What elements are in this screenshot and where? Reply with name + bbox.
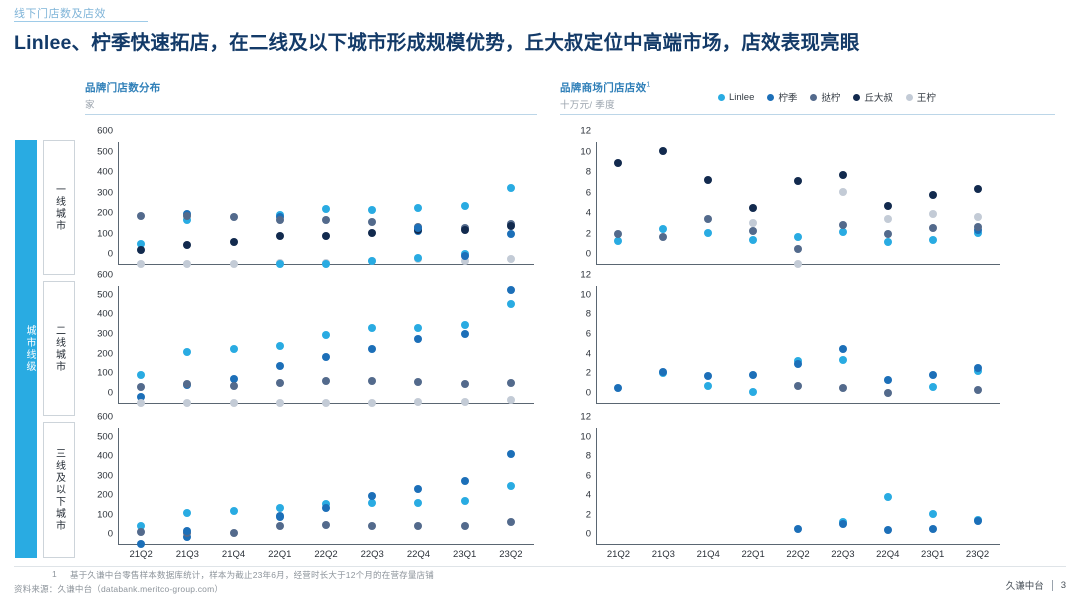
- left-column-header: 品牌门店数分布 家: [85, 80, 537, 115]
- data-point-王柠: [137, 260, 145, 268]
- y-axis-tick-label: 8: [586, 451, 591, 462]
- data-point-Linlee: [614, 237, 622, 245]
- y-axis-tick-label: 100: [97, 228, 113, 239]
- data-point-挞柠: [322, 216, 330, 224]
- legend-label: 挞柠: [821, 90, 840, 104]
- y-axis-tick-label: 10: [580, 431, 591, 442]
- x-axis-line: [596, 544, 1000, 545]
- source-text: 资料来源：久谦中台（databank.meritco-group.com）: [14, 583, 223, 595]
- left-header-divider: [85, 114, 537, 115]
- y-axis-tick-label: 300: [97, 187, 113, 198]
- y-axis-tick-label: 6: [586, 187, 591, 198]
- y-axis-tick-label: 500: [97, 289, 113, 300]
- data-point-王柠: [929, 210, 937, 218]
- legend-label: 王柠: [917, 90, 936, 104]
- data-point-Linlee: [230, 345, 238, 353]
- page-number: 3: [1061, 580, 1066, 591]
- x-axis-tick-label: 23Q1: [921, 549, 944, 560]
- data-point-挞柠: [183, 212, 191, 220]
- y-axis-tick-label: 200: [97, 208, 113, 219]
- data-point-挞柠: [276, 379, 284, 387]
- y-axis-tick-label: 100: [97, 509, 113, 520]
- y-axis-tick-label: 0: [108, 249, 113, 260]
- x-axis-line: [596, 403, 1000, 404]
- chart-stores-tier2: 0100200300400500600: [118, 286, 534, 404]
- data-point-Linlee: [368, 206, 376, 214]
- data-point-丘大叔: [794, 177, 802, 185]
- data-point-王柠: [276, 399, 284, 407]
- data-point-Linlee: [461, 321, 469, 329]
- data-point-Linlee: [322, 260, 330, 268]
- legend-swatch-icon: [810, 94, 817, 101]
- x-axis-tick-label: 23Q2: [966, 549, 989, 560]
- data-point-丘大叔: [749, 204, 757, 212]
- legend-item-linlee[interactable]: Linlee: [718, 92, 754, 103]
- data-point-柠季: [414, 335, 422, 343]
- chart-legend: Linlee柠季挞柠丘大叔王柠: [718, 90, 936, 104]
- x-axis-tick-label: 22Q4: [407, 549, 430, 560]
- y-axis-line: [596, 428, 597, 545]
- data-point-挞柠: [414, 522, 422, 530]
- data-point-王柠: [974, 213, 982, 221]
- data-point-柠季: [884, 526, 892, 534]
- data-point-王柠: [368, 399, 376, 407]
- data-point-Linlee: [183, 509, 191, 517]
- data-point-柠季: [974, 517, 982, 525]
- legend-item-王柠[interactable]: 王柠: [906, 90, 936, 104]
- x-axis-tick-label: 21Q2: [129, 549, 152, 560]
- y-axis-tick-label: 400: [97, 167, 113, 178]
- data-point-王柠: [507, 255, 515, 263]
- y-axis-tick-label: 500: [97, 431, 113, 442]
- data-point-Linlee: [414, 324, 422, 332]
- x-axis-tick-label: 22Q1: [268, 549, 291, 560]
- data-point-Linlee: [322, 331, 330, 339]
- x-axis-tick-label: 21Q4: [697, 549, 720, 560]
- data-point-王柠: [507, 396, 515, 404]
- x-axis-tick-label: 22Q1: [741, 549, 764, 560]
- y-axis-tick-label: 8: [586, 309, 591, 320]
- data-point-丘大叔: [230, 238, 238, 246]
- data-point-Linlee: [276, 260, 284, 268]
- data-point-丘大叔: [322, 232, 330, 240]
- plot-area: 02468101221Q221Q321Q422Q122Q222Q322Q423Q…: [596, 428, 1000, 545]
- data-point-丘大叔: [276, 232, 284, 240]
- y-axis-line: [118, 286, 119, 404]
- data-point-王柠: [839, 188, 847, 196]
- data-point-挞柠: [974, 386, 982, 394]
- y-axis-tick-label: 0: [108, 388, 113, 399]
- x-axis-tick-label: 22Q2: [786, 549, 809, 560]
- data-point-挞柠: [230, 529, 238, 537]
- data-point-柠季: [414, 224, 422, 232]
- data-point-Linlee: [414, 499, 422, 507]
- eyebrow-divider: [14, 21, 148, 22]
- plot-area: 010020030040050060021Q221Q321Q422Q122Q22…: [118, 428, 534, 545]
- data-point-柠季: [322, 353, 330, 361]
- data-point-挞柠: [974, 223, 982, 231]
- legend-label: 柠季: [778, 90, 797, 104]
- data-point-挞柠: [414, 378, 422, 386]
- footnote-number: 1: [52, 569, 57, 579]
- data-point-柠季: [137, 540, 145, 548]
- data-point-挞柠: [183, 380, 191, 388]
- data-point-挞柠: [368, 522, 376, 530]
- data-point-王柠: [183, 260, 191, 268]
- data-point-Linlee: [749, 388, 757, 396]
- y-axis-tick-label: 2: [586, 228, 591, 239]
- data-point-挞柠: [839, 221, 847, 229]
- data-point-挞柠: [614, 230, 622, 238]
- data-point-挞柠: [137, 383, 145, 391]
- data-point-挞柠: [368, 377, 376, 385]
- data-point-挞柠: [507, 379, 515, 387]
- data-point-王柠: [749, 219, 757, 227]
- data-point-丘大叔: [183, 241, 191, 249]
- data-point-柠季: [974, 364, 982, 372]
- legend-item-柠季[interactable]: 柠季: [767, 90, 797, 104]
- data-point-柠季: [507, 286, 515, 294]
- data-point-Linlee: [322, 205, 330, 213]
- data-point-Linlee: [368, 257, 376, 265]
- data-point-柠季: [507, 230, 515, 238]
- data-point-柠季: [839, 345, 847, 353]
- y-axis-tick-label: 2: [586, 509, 591, 520]
- y-axis-tick-label: 500: [97, 146, 113, 157]
- data-point-Linlee: [929, 236, 937, 244]
- data-point-王柠: [461, 398, 469, 406]
- y-axis-tick-label: 2: [586, 368, 591, 379]
- data-point-柠季: [183, 527, 191, 535]
- footnote-text: 基于久谦中台零售样本数据库统计，样本为截止23年6月，经营时长大于12个月的在营…: [70, 569, 434, 581]
- data-point-挞柠: [322, 521, 330, 529]
- data-point-丘大叔: [507, 222, 515, 230]
- y-axis-tick-label: 600: [97, 270, 113, 281]
- data-point-Linlee: [659, 225, 667, 233]
- y-axis-line: [118, 142, 119, 265]
- data-point-柠季: [794, 360, 802, 368]
- y-axis-tick-label: 300: [97, 470, 113, 481]
- legend-swatch-icon: [853, 94, 860, 101]
- chart-efficiency-tier3: 02468101221Q221Q321Q422Q122Q222Q322Q423Q…: [596, 428, 1000, 545]
- data-point-Linlee: [461, 497, 469, 505]
- y-axis-line: [596, 286, 597, 404]
- data-point-王柠: [884, 215, 892, 223]
- data-point-Linlee: [794, 233, 802, 241]
- data-point-柠季: [929, 525, 937, 533]
- data-point-Linlee: [839, 228, 847, 236]
- data-point-柠季: [461, 330, 469, 338]
- data-point-柠季: [276, 512, 284, 520]
- data-point-挞柠: [794, 245, 802, 253]
- legend-swatch-icon: [906, 94, 913, 101]
- legend-item-挞柠[interactable]: 挞柠: [810, 90, 840, 104]
- data-point-挞柠: [704, 215, 712, 223]
- x-axis-tick-label: 22Q2: [314, 549, 337, 560]
- data-point-Linlee: [507, 184, 515, 192]
- y-axis-tick-label: 600: [97, 126, 113, 137]
- x-axis-tick-label: 21Q4: [222, 549, 245, 560]
- data-point-Linlee: [276, 342, 284, 350]
- data-point-柠季: [276, 362, 284, 370]
- data-point-丘大叔: [929, 191, 937, 199]
- footer-divider: [14, 566, 1066, 567]
- y-axis-tick-label: 10: [580, 146, 591, 157]
- data-point-柠季: [659, 368, 667, 376]
- data-point-Linlee: [276, 504, 284, 512]
- x-axis-tick-label: 21Q3: [176, 549, 199, 560]
- row-label-tier2: 二线城市: [43, 281, 75, 416]
- y-axis-tick-label: 100: [97, 368, 113, 379]
- data-point-丘大叔: [704, 176, 712, 184]
- data-point-挞柠: [507, 518, 515, 526]
- left-chart-title: 品牌门店数分布: [85, 80, 537, 95]
- data-point-挞柠: [137, 212, 145, 220]
- y-axis-line: [118, 428, 119, 545]
- data-point-挞柠: [749, 227, 757, 235]
- page-title: Linlee、柠季快速拓店，在二线及以下城市形成规模优势，丘大叔定位中高端市场，…: [14, 26, 1070, 55]
- plot-area: 024681012: [596, 286, 1000, 404]
- y-axis-tick-label: 400: [97, 309, 113, 320]
- data-point-王柠: [794, 260, 802, 268]
- y-axis-tick-label: 0: [108, 529, 113, 540]
- legend-label: Linlee: [729, 92, 754, 103]
- data-point-Linlee: [839, 356, 847, 364]
- data-point-挞柠: [839, 384, 847, 392]
- y-axis-tick-label: 12: [580, 126, 591, 137]
- legend-label: 丘大叔: [864, 90, 893, 104]
- dimension-axis-label: 城市线级: [15, 140, 37, 558]
- x-axis-tick-label: 21Q2: [607, 549, 630, 560]
- footer-separator: [1052, 580, 1053, 591]
- data-point-王柠: [137, 399, 145, 407]
- plot-area: 0100200300400500600: [118, 142, 534, 265]
- legend-item-丘大叔[interactable]: 丘大叔: [853, 90, 893, 104]
- data-point-Linlee: [507, 300, 515, 308]
- data-point-柠季: [614, 384, 622, 392]
- data-point-挞柠: [230, 213, 238, 221]
- data-point-挞柠: [461, 380, 469, 388]
- dimension-axis-text: 城市线级: [15, 319, 37, 379]
- data-point-柠季: [704, 372, 712, 380]
- data-point-挞柠: [276, 216, 284, 224]
- data-point-柠季: [368, 345, 376, 353]
- data-point-Linlee: [137, 371, 145, 379]
- data-point-丘大叔: [614, 159, 622, 167]
- data-point-丘大叔: [461, 226, 469, 234]
- data-point-丘大叔: [974, 185, 982, 193]
- data-point-Linlee: [414, 204, 422, 212]
- data-point-挞柠: [884, 389, 892, 397]
- data-point-柠季: [507, 450, 515, 458]
- right-header-divider: [560, 114, 1055, 115]
- data-point-Linlee: [749, 236, 757, 244]
- data-point-Linlee: [704, 382, 712, 390]
- chart-efficiency-tier2: 024681012: [596, 286, 1000, 404]
- data-point-挞柠: [884, 230, 892, 238]
- footnote-marker: 1: [646, 82, 650, 89]
- data-point-Linlee: [230, 507, 238, 515]
- data-point-柠季: [322, 504, 330, 512]
- data-point-挞柠: [230, 382, 238, 390]
- data-point-挞柠: [659, 233, 667, 241]
- x-axis-tick-label: 21Q3: [652, 549, 675, 560]
- data-point-挞柠: [137, 528, 145, 536]
- y-axis-tick-label: 8: [586, 167, 591, 178]
- y-axis-tick-label: 4: [586, 348, 591, 359]
- data-point-王柠: [183, 399, 191, 407]
- data-point-丘大叔: [368, 229, 376, 237]
- data-point-Linlee: [368, 324, 376, 332]
- x-axis-line: [118, 544, 534, 545]
- y-axis-tick-label: 10: [580, 289, 591, 300]
- data-point-柠季: [884, 376, 892, 384]
- slide-page: 线下门店数及店效 Linlee、柠季快速拓店，在二线及以下城市形成规模优势，丘大…: [0, 0, 1080, 607]
- plot-area: 024681012: [596, 142, 1000, 265]
- data-point-柠季: [461, 477, 469, 485]
- data-point-柠季: [368, 492, 376, 500]
- y-axis-tick-label: 6: [586, 329, 591, 340]
- data-point-丘大叔: [137, 246, 145, 254]
- data-point-Linlee: [704, 229, 712, 237]
- legend-swatch-icon: [718, 94, 725, 101]
- data-point-柠季: [749, 371, 757, 379]
- x-axis-tick-label: 23Q2: [499, 549, 522, 560]
- y-axis-tick-label: 4: [586, 490, 591, 501]
- left-chart-unit: 家: [85, 97, 537, 111]
- data-point-挞柠: [322, 377, 330, 385]
- data-point-柠季: [839, 520, 847, 528]
- data-point-Linlee: [461, 202, 469, 210]
- y-axis-tick-label: 600: [97, 412, 113, 423]
- x-axis-tick-label: 23Q1: [453, 549, 476, 560]
- chart-stores-tier3: 010020030040050060021Q221Q321Q422Q122Q22…: [118, 428, 534, 545]
- chart-efficiency-tier1: 024681012: [596, 142, 1000, 265]
- data-point-Linlee: [507, 482, 515, 490]
- y-axis-tick-label: 300: [97, 329, 113, 340]
- y-axis-tick-label: 0: [586, 529, 591, 540]
- y-axis-tick-label: 6: [586, 470, 591, 481]
- data-point-Linlee: [368, 499, 376, 507]
- data-point-挞柠: [276, 522, 284, 530]
- x-axis-tick-label: 22Q3: [831, 549, 854, 560]
- footer-brand: 久谦中台: [1006, 578, 1044, 592]
- data-point-挞柠: [794, 382, 802, 390]
- y-axis-tick-label: 200: [97, 348, 113, 359]
- y-axis-tick-label: 0: [586, 388, 591, 399]
- y-axis-tick-label: 12: [580, 412, 591, 423]
- data-point-柠季: [414, 485, 422, 493]
- legend-swatch-icon: [767, 94, 774, 101]
- y-axis-line: [596, 142, 597, 265]
- data-point-柠季: [929, 371, 937, 379]
- data-point-挞柠: [929, 224, 937, 232]
- eyebrow-label: 线下门店数及店效: [14, 5, 106, 21]
- data-point-丘大叔: [839, 171, 847, 179]
- data-point-Linlee: [414, 254, 422, 262]
- y-axis-tick-label: 200: [97, 490, 113, 501]
- data-point-Linlee: [884, 238, 892, 246]
- data-point-柠季: [461, 252, 469, 260]
- data-point-王柠: [414, 398, 422, 406]
- data-point-Linlee: [884, 493, 892, 501]
- x-axis-tick-label: 22Q3: [361, 549, 384, 560]
- row-label-tier1: 一线城市: [43, 140, 75, 275]
- data-point-王柠: [230, 399, 238, 407]
- x-axis-tick-label: 22Q4: [876, 549, 899, 560]
- data-point-王柠: [322, 399, 330, 407]
- y-axis-tick-label: 0: [586, 249, 591, 260]
- row-label-tier3: 三线及以下城市: [43, 422, 75, 558]
- footer-page-info: 久谦中台 3: [1006, 578, 1066, 592]
- y-axis-tick-label: 400: [97, 451, 113, 462]
- data-point-Linlee: [929, 383, 937, 391]
- data-point-柠季: [794, 525, 802, 533]
- chart-stores-tier1: 0100200300400500600: [118, 142, 534, 265]
- y-axis-tick-label: 4: [586, 208, 591, 219]
- data-point-挞柠: [368, 218, 376, 226]
- data-point-丘大叔: [659, 147, 667, 155]
- data-point-王柠: [230, 260, 238, 268]
- data-point-Linlee: [929, 510, 937, 518]
- data-point-Linlee: [183, 348, 191, 356]
- y-axis-tick-label: 12: [580, 270, 591, 281]
- data-point-丘大叔: [884, 202, 892, 210]
- data-point-挞柠: [461, 522, 469, 530]
- plot-area: 0100200300400500600: [118, 286, 534, 404]
